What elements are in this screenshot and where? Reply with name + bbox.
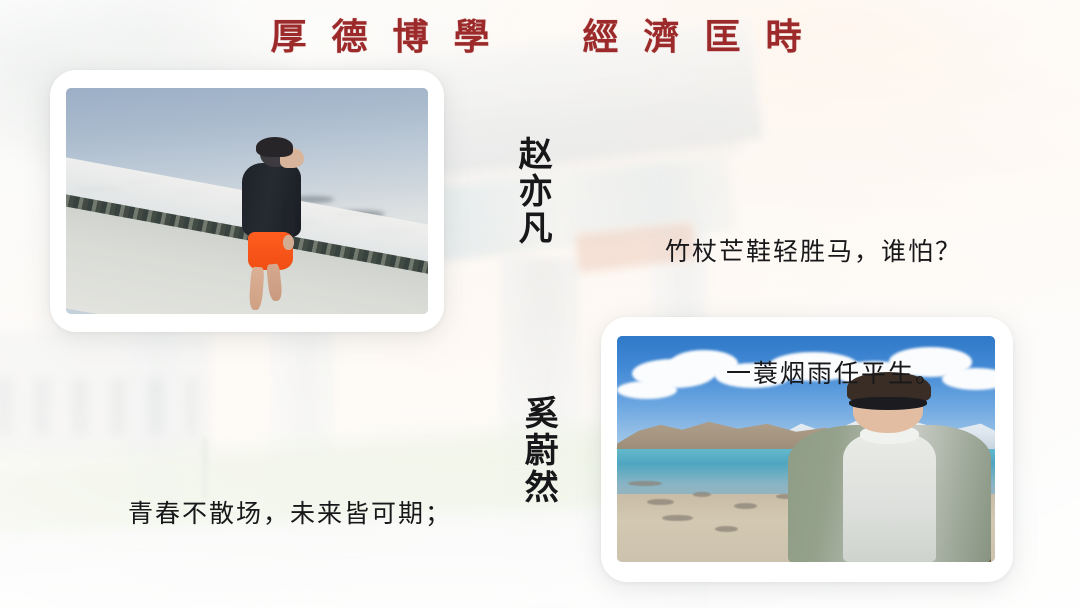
slide-canvas: 厚 德 博 學 經 濟 匡 時: [0, 0, 1080, 608]
photo1-person: [233, 140, 313, 307]
photo2-rock: [628, 481, 662, 486]
photo-card-zhao[interactable]: [50, 70, 444, 332]
quote-xi: 青春不散场，未来皆可期； 带着梦想与热忱，奔赴下一场山海: [44, 414, 484, 608]
photo2-rock: [715, 526, 738, 532]
quote-zhao-line-2: 一蓑烟雨任平生。: [640, 355, 970, 396]
quote-zhao: 竹杖芒鞋轻胜马，谁怕？ 一蓑烟雨任平生。: [640, 152, 970, 476]
quote-xi-line-1: 青春不散场，未来皆可期；: [44, 495, 484, 536]
photo2-rock: [662, 515, 692, 522]
page-title: 厚 德 博 學 經 濟 匡 時: [0, 8, 1080, 60]
quote-zhao-line-1: 竹杖芒鞋轻胜马，谁怕？: [640, 233, 970, 274]
person-name-zhao: 赵亦凡: [512, 136, 550, 247]
photo1-person-hand: [283, 235, 293, 250]
photo1-person-leg: [249, 267, 265, 311]
photo-image-zhao: [66, 88, 428, 314]
photo1-person-hair: [256, 137, 293, 157]
person-name-xi: 奚蔚然: [518, 395, 556, 506]
